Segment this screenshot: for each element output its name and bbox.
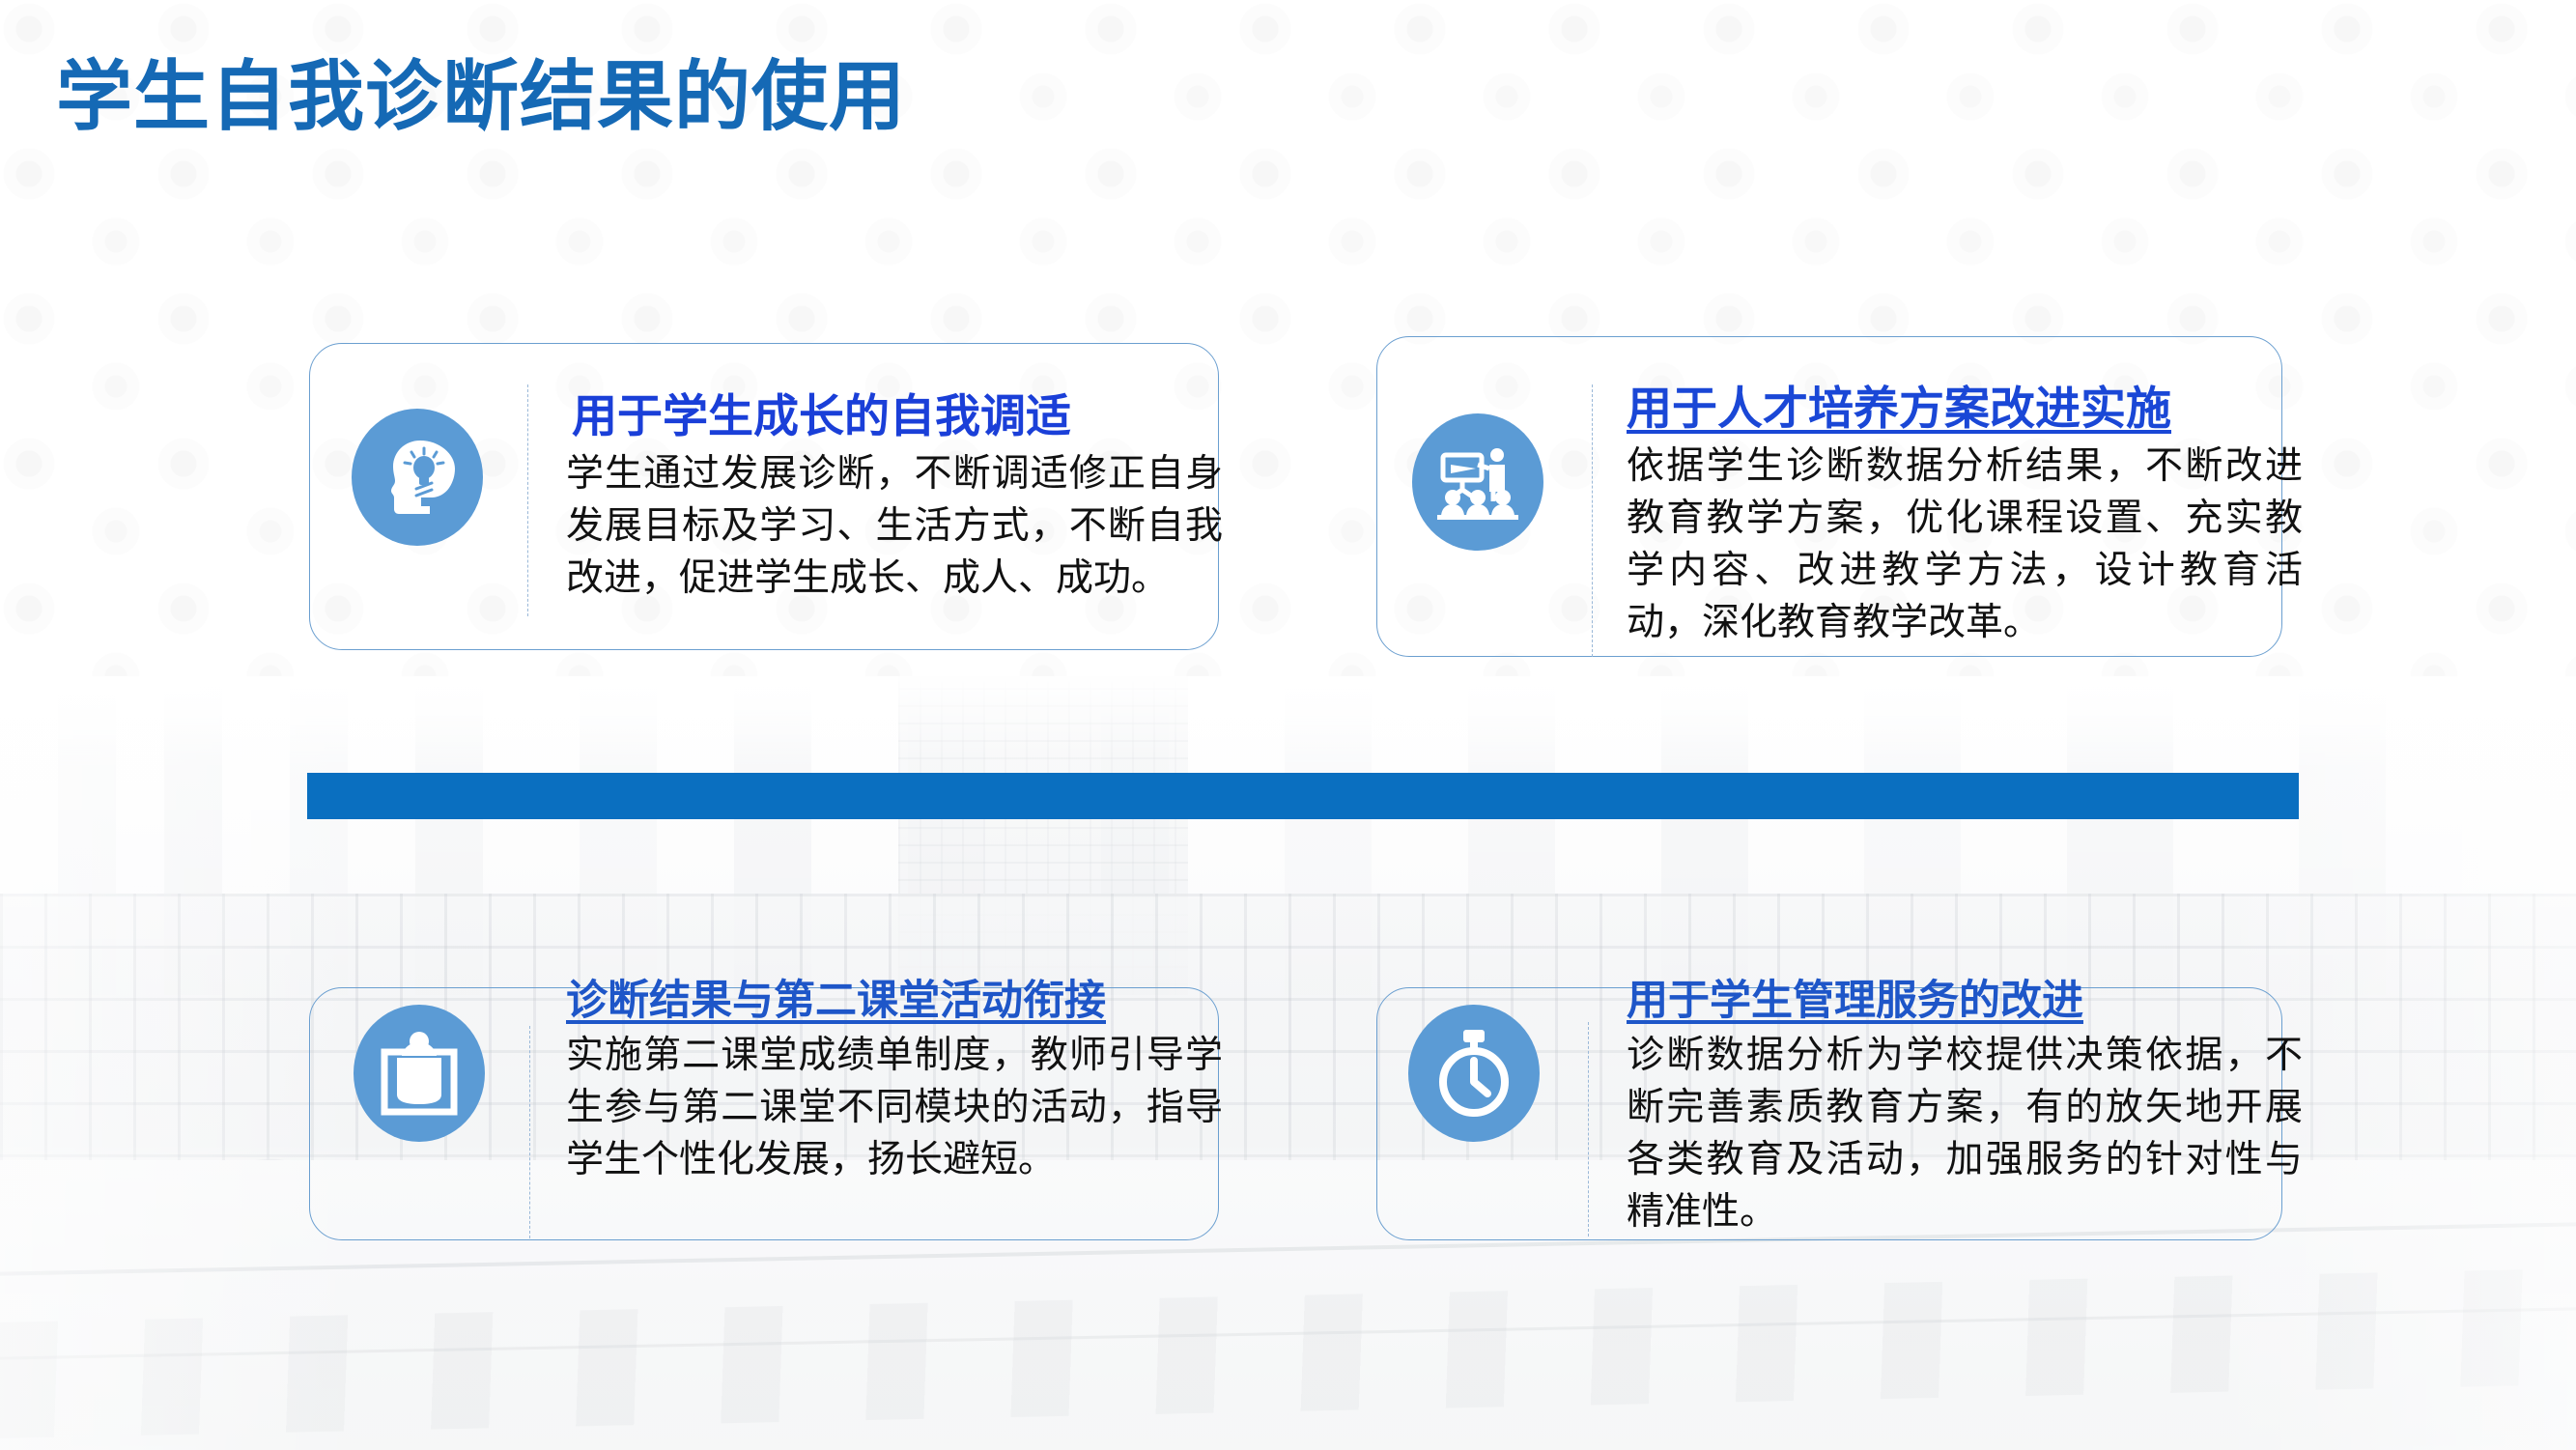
card-title: 用于学生成长的自我调适 [572, 389, 1223, 444]
slide-canvas: 学生自我诊断结果的使用 用于学生成长的自我调适 学生通过发展诊断，不断调适修正自… [0, 0, 2576, 1450]
card-text-block: 用于人才培养方案改进实施 依据学生诊断数据分析结果，不断改进教育教学方案，优化课… [1627, 382, 2303, 649]
card-text-block: 用于学生成长的自我调适 学生通过发展诊断，不断调适修正自身发展目标及学习、生活方… [566, 389, 1223, 605]
card-title: 用于人才培养方案改进实施 [1627, 382, 2303, 437]
blue-divider-bar [307, 773, 2299, 819]
card-text-block: 用于学生管理服务的改进 诊断数据分析为学校提供决策依据，不断完善素质教育方案，有… [1627, 976, 2303, 1238]
card-divider-line [527, 384, 528, 616]
card-divider-line [529, 1026, 530, 1238]
card-divider-line [1588, 1022, 1589, 1237]
page-title: 学生自我诊断结果的使用 [56, 56, 906, 138]
stopwatch-icon [1408, 1005, 1540, 1142]
card-text-block: 诊断结果与第二课堂活动衔接 实施第二课堂成绩单制度，教师引导学生参与第二课堂不同… [566, 976, 1223, 1186]
card-body: 学生通过发展诊断，不断调适修正自身发展目标及学习、生活方式，不断自我改进，促进学… [566, 448, 1223, 604]
card-body: 依据学生诊断数据分析结果，不断改进教育教学方案，优化课程设置、充实教学内容、改进… [1627, 441, 2303, 648]
head-lightbulb-icon [352, 409, 483, 546]
card-title: 用于学生管理服务的改进 [1627, 976, 2303, 1026]
classroom-training-icon [1412, 413, 1543, 551]
clipboard-person-icon [354, 1005, 485, 1142]
card-body: 诊断数据分析为学校提供决策依据，不断完善素质教育方案，有的放矢地开展各类教育及活… [1627, 1030, 2303, 1237]
card-divider-line [1592, 384, 1593, 657]
card-title: 诊断结果与第二课堂活动衔接 [566, 976, 1223, 1026]
card-body: 实施第二课堂成绩单制度，教师引导学生参与第二课堂不同模块的活动，指导学生个性化发… [566, 1030, 1223, 1185]
